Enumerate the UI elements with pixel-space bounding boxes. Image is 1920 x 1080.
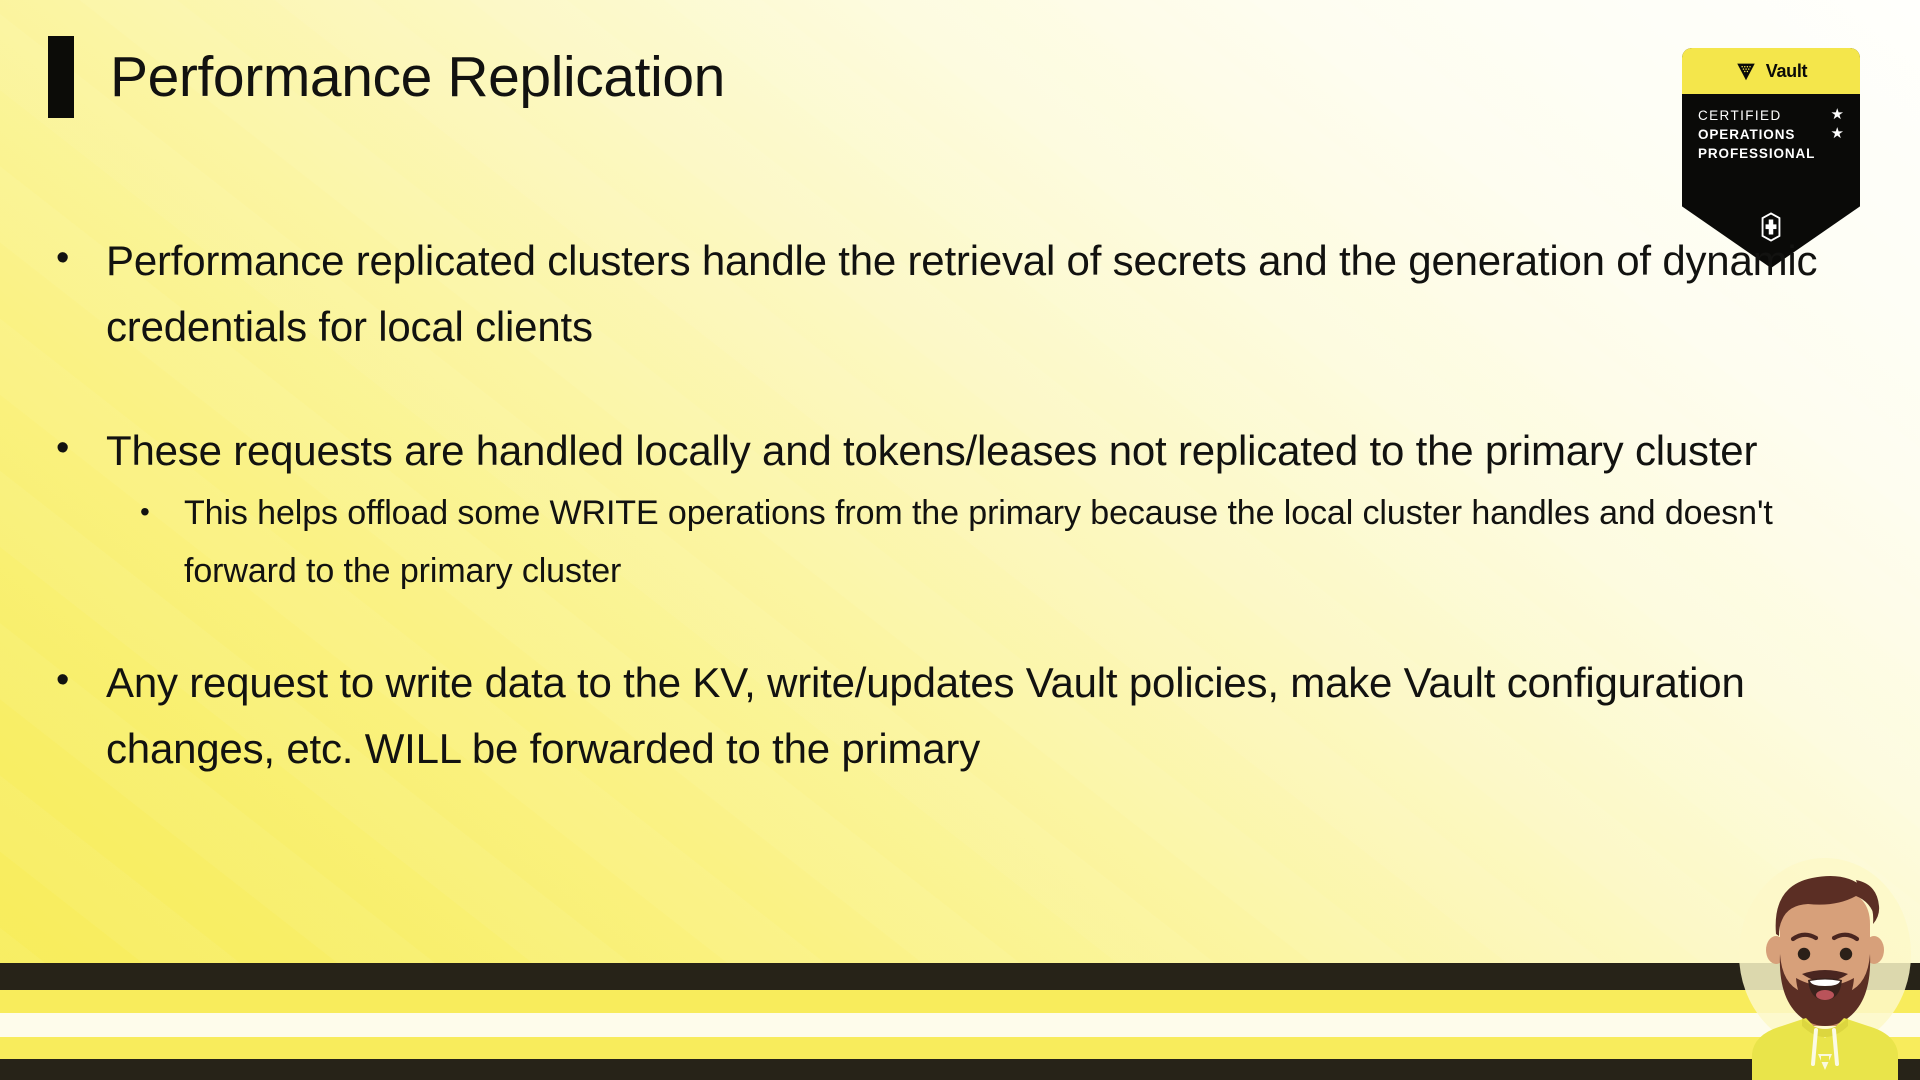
badge-line-operations: OPERATIONS [1698, 125, 1815, 144]
spacer [56, 600, 1856, 650]
presenter-avatar [1736, 858, 1914, 1080]
bullet-list: • Performance replicated clusters handle… [56, 228, 1856, 782]
sub-list-item: • This helps offload some WRITE operatio… [140, 484, 1856, 600]
badge-brand-label: Vault [1766, 62, 1808, 80]
footer-white-stripe [0, 1013, 1920, 1037]
star-icon-2: ★ [1831, 126, 1844, 142]
vault-triangle-icon [1735, 61, 1757, 82]
bullet-marker-icon: • [56, 418, 106, 478]
footer-dark-bar-bottom [0, 1059, 1920, 1080]
star-icon-1: ★ [1831, 107, 1844, 123]
title-label: Performance Replication [110, 49, 725, 106]
title-accent-bar [48, 36, 74, 118]
list-item: • These requests are handled locally and… [56, 418, 1856, 484]
bullet-text: These requests are handled locally and t… [106, 418, 1757, 484]
bullet-marker-icon: • [56, 650, 106, 710]
badge-line-professional: PROFESSIONAL [1698, 144, 1815, 163]
badge-certification-lines: CERTIFIED OPERATIONS PROFESSIONAL [1698, 106, 1815, 163]
badge-header: Vault [1682, 48, 1860, 94]
avatar-illustration [1736, 858, 1914, 1080]
list-item: • Performance replicated clusters handle… [56, 228, 1856, 360]
list-item: • Any request to write data to the KV, w… [56, 650, 1856, 782]
sub-bullet-marker-icon: • [140, 484, 184, 539]
bullet-text: Performance replicated clusters handle t… [106, 228, 1856, 360]
slide: Performance Replication Vault CERTIFIED … [0, 0, 1920, 1080]
badge-stars: ★ ★ [1831, 107, 1844, 142]
bullet-marker-icon: • [56, 228, 106, 288]
bullet-text: Any request to write data to the KV, wri… [106, 650, 1856, 782]
spacer [56, 360, 1856, 418]
footer-yellow-bar-lower [0, 1037, 1920, 1059]
badge-line-certified: CERTIFIED [1698, 106, 1815, 125]
footer-yellow-bar-upper [0, 990, 1920, 1013]
page-title: Performance Replication [48, 34, 725, 120]
sub-bullet-text: This helps offload some WRITE operations… [184, 484, 1856, 600]
footer-dark-bar-top [0, 963, 1920, 990]
